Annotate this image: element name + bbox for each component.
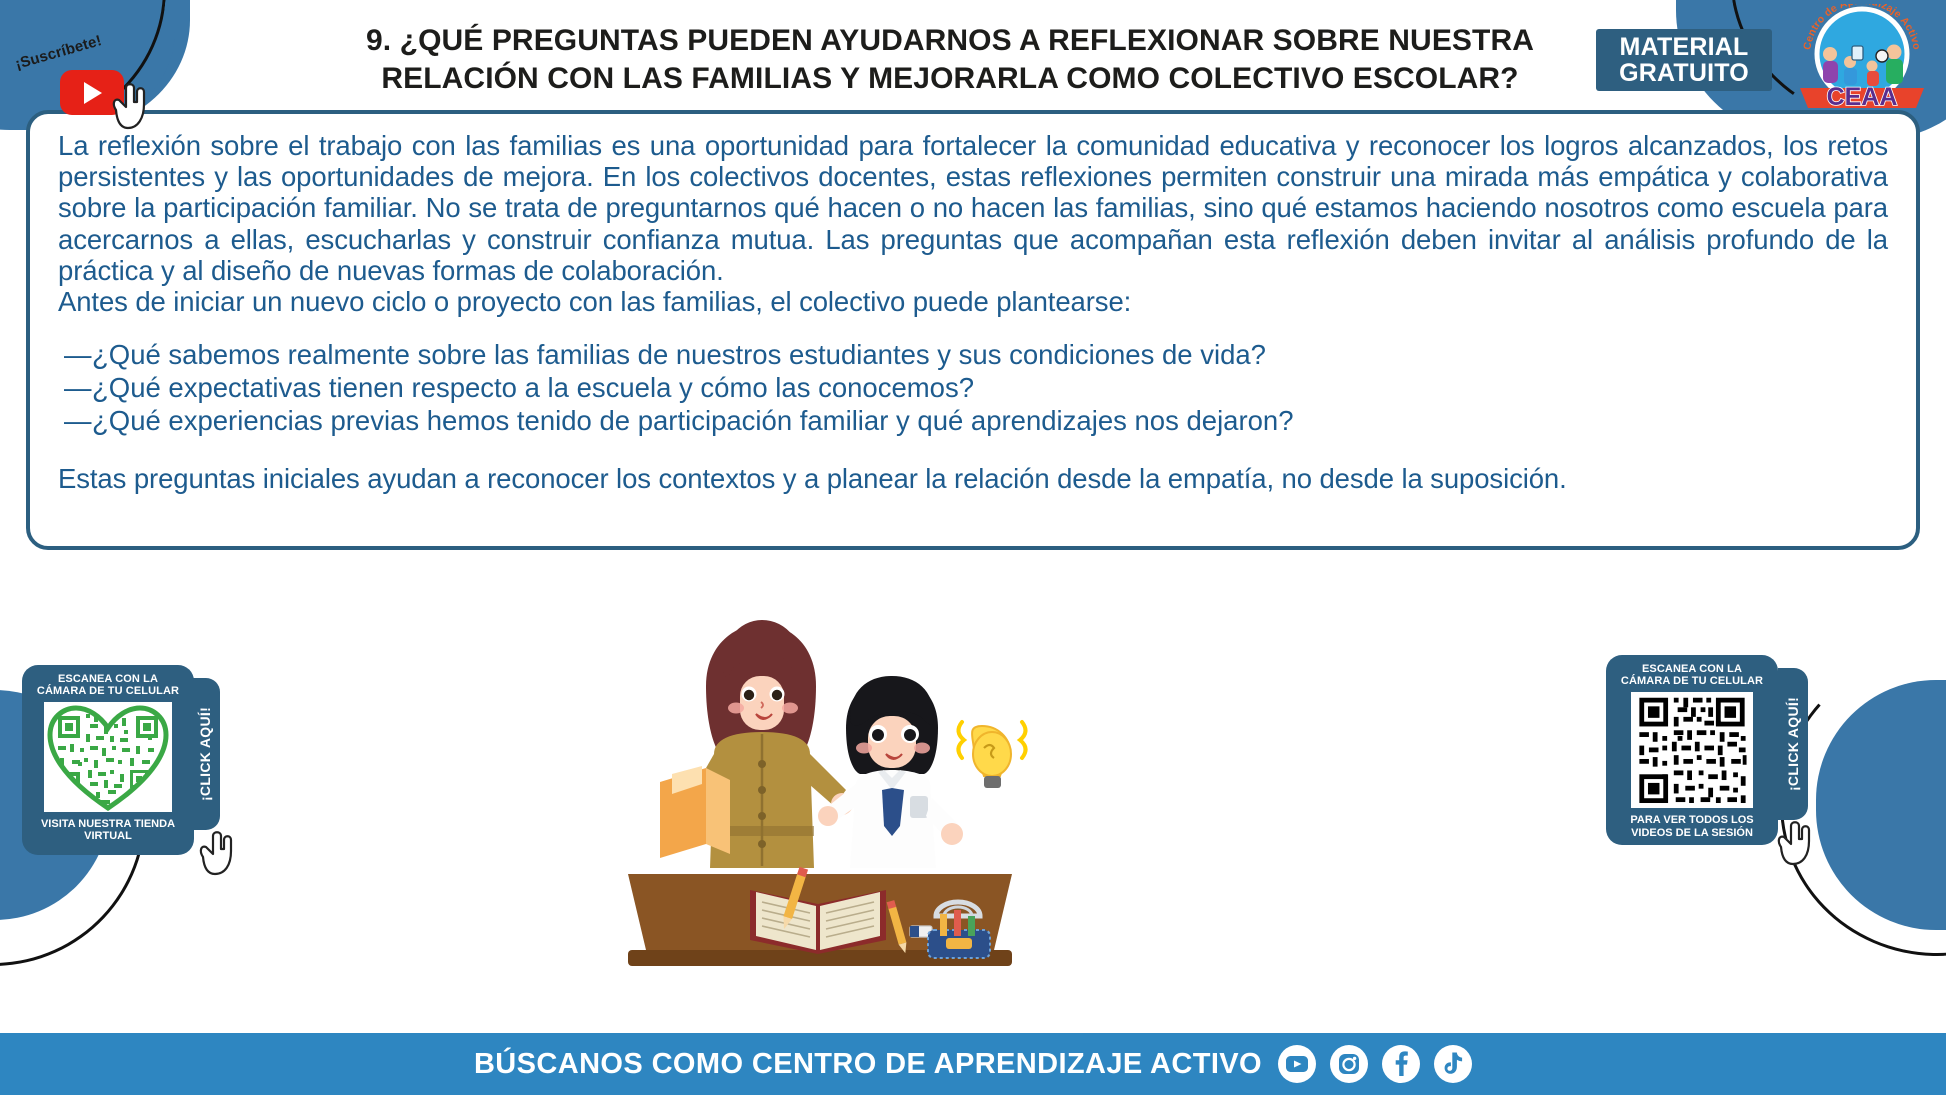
list-item: — ¿Qué experiencias previas hemos tenido… xyxy=(58,405,1888,438)
footer-text: BÚSCANOS COMO CENTRO DE APRENDIZAJE ACTI… xyxy=(474,1048,1262,1081)
title-line-1: 9. ¿QUÉ PREGUNTAS PUEDEN AYUDARNOS A REF… xyxy=(330,22,1570,60)
subscribe-label: ¡Suscríbete! xyxy=(13,32,103,73)
click-here-label: ¡CLICK AQUÍ! xyxy=(197,707,213,801)
bullet-dash-icon: — xyxy=(64,372,92,405)
bullet-dash-icon: — xyxy=(64,339,92,372)
qr-footer-right-line-2: VIDEOS DE LA SESIÓN xyxy=(1630,827,1753,839)
qr-code-heart-store[interactable] xyxy=(44,702,172,812)
qr-code-videos[interactable] xyxy=(1631,692,1753,809)
question-text: ¿Qué sabemos realmente sobre las familia… xyxy=(92,339,1266,370)
lightbulb-icon xyxy=(958,722,1025,788)
qr-panel-videos[interactable]: ESCANEA CON LA CÁMARA DE TU CELULAR xyxy=(1606,655,1778,845)
reflection-questions-list: — ¿Qué sabemos realmente sobre las famil… xyxy=(58,339,1888,437)
instagram-icon[interactable] xyxy=(1330,1045,1368,1083)
page-title: 9. ¿QUÉ PREGUNTAS PUEDEN AYUDARNOS A REF… xyxy=(330,22,1570,99)
qr-footer-left-line-2: VIRTUAL xyxy=(41,830,175,842)
material-gratuito-badge: MATERIAL GRATUITO xyxy=(1596,29,1772,91)
qr-footer-right: PARA VER TODOS LOS VIDEOS DE LA SESIÓN xyxy=(1630,814,1753,839)
click-here-label: ¡CLICK AQUÍ! xyxy=(1785,697,1801,791)
click-here-tab-right[interactable]: ¡CLICK AQUÍ! xyxy=(1778,668,1808,820)
qr-panel-store[interactable]: ESCANEA CON LA CÁMARA DE TU CELULAR xyxy=(22,665,194,855)
paragraph-1: La reflexión sobre el trabajo con las fa… xyxy=(58,130,1888,286)
qr-footer-left: VISITA NUESTRA TIENDA VIRTUAL xyxy=(41,818,175,843)
youtube-icon[interactable] xyxy=(1278,1045,1316,1083)
bullet-dash-icon: — xyxy=(64,405,92,438)
qr-footer-right-line-1: PARA VER TODOS LOS xyxy=(1630,814,1753,826)
list-item: — ¿Qué expectativas tienen respecto a la… xyxy=(58,372,1888,405)
ceaa-logo: Centro de Aprendizaje Activo CEAA xyxy=(1786,4,1938,112)
list-item: — ¿Qué sabemos realmente sobre las famil… xyxy=(58,339,1888,372)
qr-caption-right-line-2: CÁMARA DE TU CELULAR xyxy=(1621,675,1763,687)
social-icons xyxy=(1278,1045,1472,1083)
qr-footer-left-line-1: VISITA NUESTRA TIENDA xyxy=(41,818,175,830)
facebook-icon[interactable] xyxy=(1382,1045,1420,1083)
paragraph-2: Antes de iniciar un nuevo ciclo o proyec… xyxy=(58,286,1888,317)
footer-banner: BÚSCANOS COMO CENTRO DE APRENDIZAJE ACTI… xyxy=(0,1033,1946,1095)
student-figure xyxy=(818,676,963,868)
classroom-illustration xyxy=(610,558,1030,1018)
qr-caption-right: ESCANEA CON LA CÁMARA DE TU CELULAR xyxy=(1621,663,1763,688)
click-here-tab-left[interactable]: ¡CLICK AQUÍ! xyxy=(190,678,220,830)
qr-caption-left: ESCANEA CON LA CÁMARA DE TU CELULAR xyxy=(37,673,179,698)
question-text: ¿Qué experiencias previas hemos tenido d… xyxy=(92,405,1294,436)
qr-caption-left-line-1: ESCANEA CON LA xyxy=(37,673,179,685)
title-line-2: RELACIÓN CON LAS FAMILIAS Y MEJORARLA CO… xyxy=(330,60,1570,98)
material-label-line-2: GRATUITO xyxy=(1619,60,1749,87)
qr-caption-right-line-1: ESCANEA CON LA xyxy=(1621,663,1763,675)
pointer-hand-icon-left xyxy=(196,828,240,878)
content-card: La reflexión sobre el trabajo con las fa… xyxy=(26,110,1920,550)
pointer-hand-icon xyxy=(108,80,154,132)
material-label-line-1: MATERIAL xyxy=(1620,34,1749,61)
orange-book xyxy=(660,766,730,858)
subscribe-badge[interactable]: ¡Suscríbete! xyxy=(8,18,188,123)
question-text: ¿Qué expectativas tienen respecto a la e… xyxy=(92,372,974,403)
tiktok-icon[interactable] xyxy=(1434,1045,1472,1083)
qr-caption-left-line-2: CÁMARA DE TU CELULAR xyxy=(37,685,179,697)
ceaa-logo-name: CEAA xyxy=(1827,83,1898,111)
closing-paragraph: Estas preguntas iniciales ayudan a recon… xyxy=(58,463,1888,494)
slide-root: ¡Suscríbete! 9. ¿QUÉ PREGUNTAS PUEDEN AY… xyxy=(0,0,1946,1095)
pointer-hand-icon-right xyxy=(1774,818,1818,868)
